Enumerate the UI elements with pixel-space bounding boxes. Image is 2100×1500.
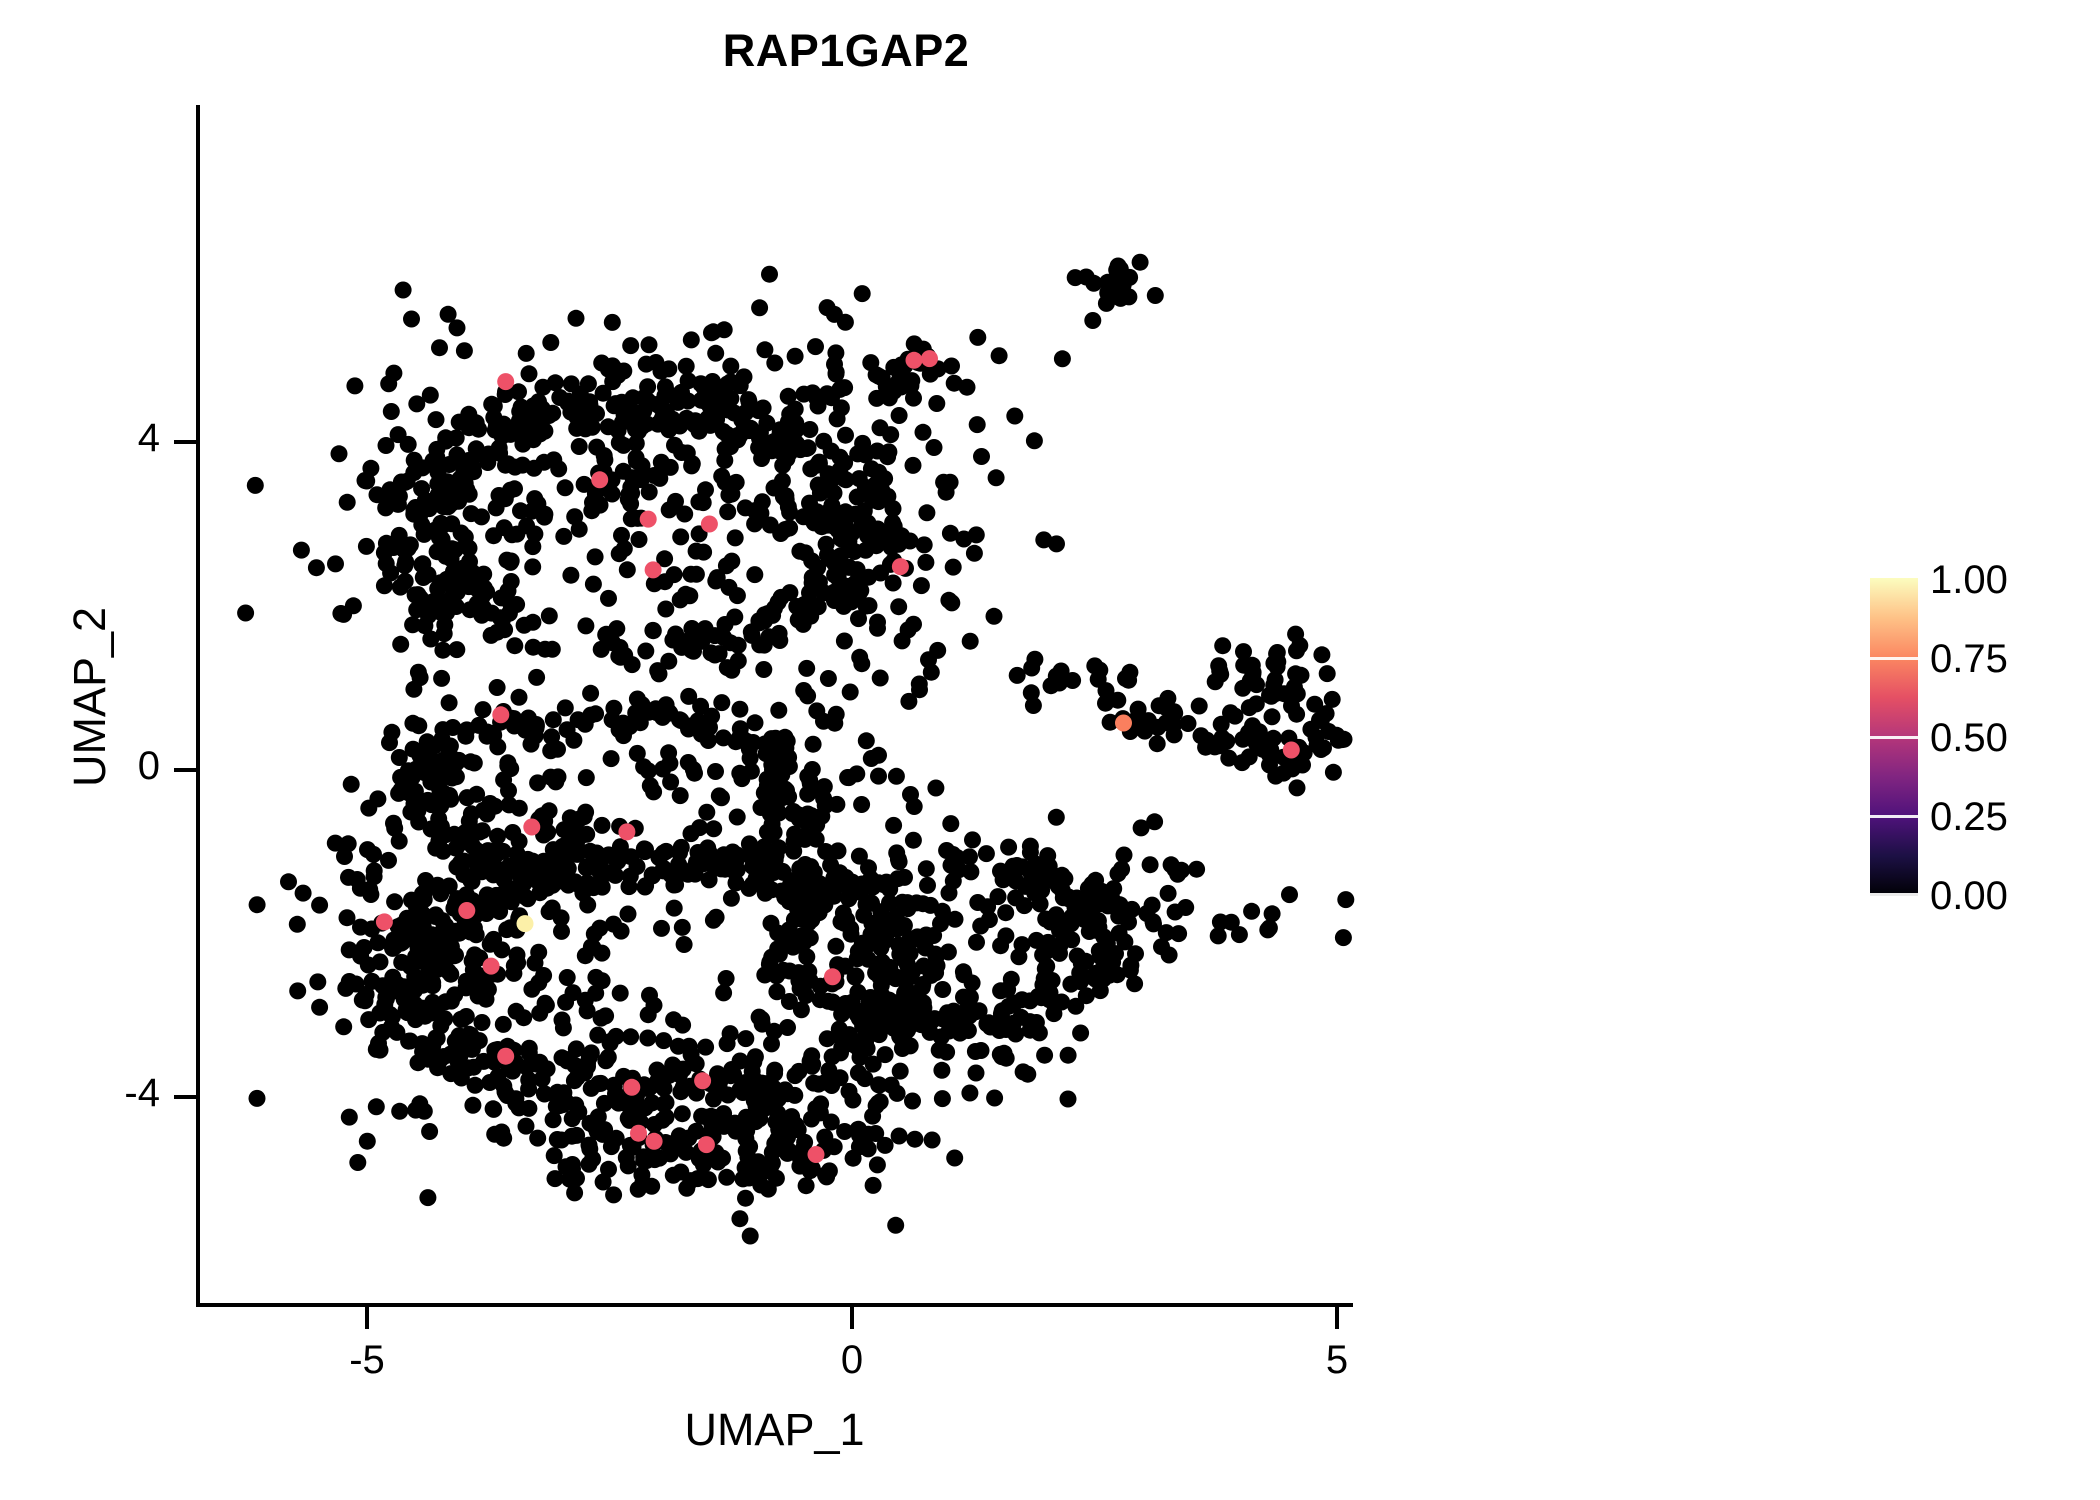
colorbar-label-025: 0.25 <box>1930 797 2008 837</box>
scatter-plot-points <box>0 0 2100 1500</box>
colorbar-label-000: 0.00 <box>1930 876 2008 916</box>
colorbar-label-1: 1.00 <box>1930 560 2008 600</box>
colorbar-label-050: 0.50 <box>1930 718 2008 758</box>
colorbar-tick-000 <box>1870 893 1918 896</box>
y-axis-title: UMAP_2 <box>64 297 116 1097</box>
colorbar-legend: 1.00 0.75 0.50 0.25 0.00 <box>1860 560 2090 920</box>
colorbar <box>1870 578 1918 896</box>
colorbar-tick-075 <box>1870 657 1918 660</box>
colorbar-tick-050 <box>1870 736 1918 739</box>
umap-figure: RAP1GAP2 4 0 -4 -5 0 5 UMAP_1 UMAP_2 1.0… <box>0 0 2100 1500</box>
x-axis-title: UMAP_1 <box>196 1404 1353 1456</box>
colorbar-tick-025 <box>1870 815 1918 818</box>
colorbar-label-075: 0.75 <box>1930 639 2008 679</box>
